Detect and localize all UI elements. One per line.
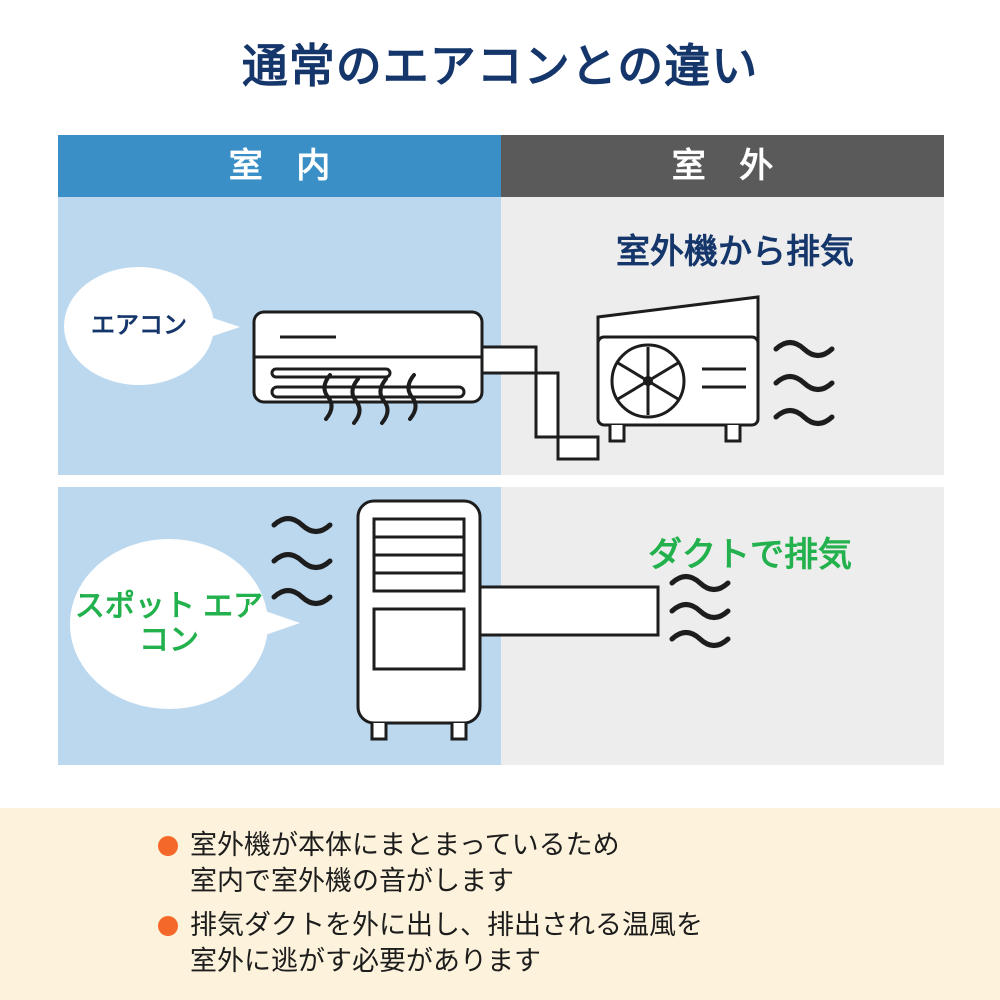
page-title: 通常のエアコンとの違い xyxy=(0,30,1000,96)
diagram-row-spot-aircon: スポット エアコン ダクトで排気 xyxy=(58,487,944,765)
portable-spot-air-conditioner-icon xyxy=(358,501,480,739)
wall-air-conditioner-icon xyxy=(254,312,482,402)
callout-spot-aircon: スポット エアコン xyxy=(70,539,268,709)
zone-header-indoor: 室 内 xyxy=(58,135,501,197)
bullet-icon xyxy=(158,916,178,936)
outdoor-unit-icon xyxy=(598,297,758,441)
notes-panel: 室外機が本体にまとまっているため 室内で室外機の音がします 排気ダクトを外に出し… xyxy=(0,808,1000,1000)
duct-exhaust-waves-icon xyxy=(672,577,728,646)
spot-airflow-waves-icon xyxy=(274,519,330,604)
callout-aircon: エアコン xyxy=(64,267,214,385)
label-exhaust-via-duct: ダクトで排気 xyxy=(648,527,852,576)
outdoor-exhaust-waves-icon xyxy=(776,343,832,424)
zone-header-outdoor: 室 外 xyxy=(501,135,944,197)
callout-spot-aircon-tail xyxy=(248,605,300,641)
diagram-row-normal-aircon: エアコン 室外機から排気 xyxy=(58,197,944,475)
note-text: 排気ダクトを外に出し、排出される温風を 室外に逃がす必要があります xyxy=(190,908,703,979)
comparison-diagram: 室 内 室 外 xyxy=(58,135,944,778)
note-item: 排気ダクトを外に出し、排出される温風を 室外に逃がす必要があります xyxy=(158,908,703,979)
bullet-icon xyxy=(158,836,178,856)
label-exhaust-from-outdoor-unit: 室外機から排気 xyxy=(616,224,854,273)
page-root: 通常のエアコンとの違い 室 内 室 外 xyxy=(0,0,1000,1000)
callout-aircon-tail xyxy=(198,313,240,341)
note-item: 室外機が本体にまとまっているため 室内で室外機の音がします xyxy=(158,828,620,899)
note-text: 室外機が本体にまとまっているため 室内で室外機の音がします xyxy=(190,828,620,899)
